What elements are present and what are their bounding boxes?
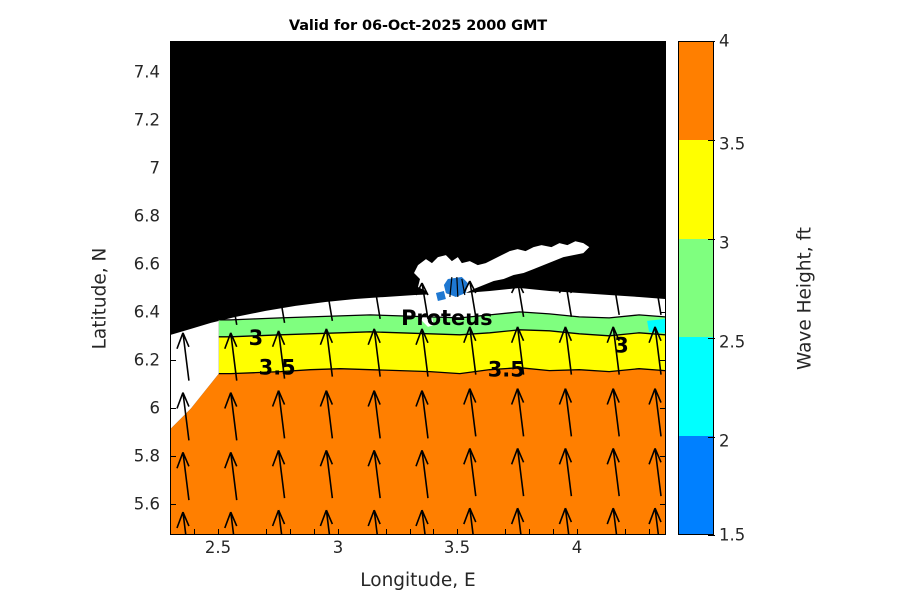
colorbar-tick-4 (708, 41, 715, 42)
colorbar-tick-1.5 (708, 535, 715, 536)
x-axis-title: Longitude, E (170, 570, 666, 591)
ytick-mark-right-6.8 (660, 216, 666, 217)
xtick-mark-top-minor-1 (194, 41, 195, 47)
colorbar-band-blue (679, 436, 713, 534)
ytick-mark-5.8 (170, 456, 176, 457)
xtick-mark-top-minor-12 (649, 41, 650, 47)
ytick-mark-5.6 (170, 504, 176, 505)
xtick-label-3.5: 3.5 (427, 538, 487, 557)
ytick-mark-right-6.2 (660, 360, 666, 361)
colorbar-title: Wave Height, ft (795, 174, 816, 424)
ytick-mark-6.2 (170, 360, 176, 361)
station-label-proteus: Proteus (401, 306, 493, 330)
xtick-mark-minor-2 (266, 529, 267, 535)
xtick-mark-3.5 (457, 529, 458, 535)
xtick-mark-minor-9 (529, 529, 530, 535)
map-plot-area[interactable]: 3 3.5 3.5 3 Proteus (170, 41, 666, 535)
y-axis-title: Latitude, N (90, 174, 111, 424)
ytick-mark-right-5.6 (660, 504, 666, 505)
xtick-mark-top-minor-9 (529, 41, 530, 47)
contour-label-35-right: 3.5 (488, 358, 525, 382)
ytick-mark-6 (170, 408, 176, 409)
xtick-mark-2.5 (218, 529, 219, 535)
ytick-label-5.8: 5.8 (100, 447, 160, 466)
colorbar-band-yellow (679, 140, 713, 238)
ytick-mark-7 (170, 168, 176, 169)
ytick-mark-6.6 (170, 264, 176, 265)
colorbar-band-orange (679, 42, 713, 140)
colorbar[interactable] (678, 41, 714, 535)
xtick-mark-top-minor-10 (553, 41, 554, 47)
xtick-mark-top-minor-8 (505, 41, 506, 47)
ytick-mark-right-7 (660, 168, 666, 169)
xtick-mark-minor-12 (649, 529, 650, 535)
colorbar-tick-2 (708, 437, 715, 438)
ytick-mark-right-5.8 (660, 456, 666, 457)
contour-label-3-left: 3 (249, 326, 264, 350)
xtick-mark-minor-1 (194, 529, 195, 535)
ytick-mark-right-6 (660, 408, 666, 409)
xtick-mark-4 (577, 529, 578, 535)
wave-height-map: 3 3.5 3.5 3 Proteus (171, 42, 665, 534)
colorbar-tick-2.5 (708, 338, 715, 339)
xtick-mark-minor-8 (505, 529, 506, 535)
ytick-mark-7.2 (170, 120, 176, 121)
xtick-mark-minor-3 (290, 529, 291, 535)
xtick-mark-3 (338, 529, 339, 535)
ytick-label-7.4: 7.4 (100, 63, 160, 82)
xtick-mark-top-minor-11 (625, 41, 626, 47)
xtick-mark-top-3.5 (457, 41, 458, 47)
xtick-mark-top-minor-2 (266, 41, 267, 47)
ytick-label-7.2: 7.2 (100, 111, 160, 130)
xtick-mark-minor-7 (433, 529, 434, 535)
xtick-label-4: 4 (547, 538, 607, 557)
colorbar-label-2.5: 2.5 (719, 333, 745, 352)
xtick-mark-minor-4 (314, 529, 315, 535)
ytick-label-5.6: 5.6 (100, 495, 160, 514)
ytick-mark-right-7.4 (660, 72, 666, 73)
xtick-mark-minor-11 (625, 529, 626, 535)
ytick-mark-right-7.2 (660, 120, 666, 121)
colorbar-label-3.5: 3.5 (719, 135, 745, 154)
xtick-mark-top-minor-6 (410, 41, 411, 47)
xtick-mark-minor-6 (410, 529, 411, 535)
xtick-mark-top-4 (577, 41, 578, 47)
ytick-mark-7.4 (170, 72, 176, 73)
contour-label-3-right: 3 (614, 334, 629, 358)
xtick-mark-top-minor-3 (290, 41, 291, 47)
ytick-mark-right-6.6 (660, 264, 666, 265)
xtick-label-3: 3 (308, 538, 368, 557)
xtick-mark-top-minor-7 (433, 41, 434, 47)
ytick-mark-6.4 (170, 312, 176, 313)
colorbar-tick-3.5 (708, 140, 715, 141)
chart-title: Valid for 06-Oct-2025 2000 GMT (170, 18, 666, 34)
contour-label-35-left: 3.5 (259, 356, 296, 380)
xtick-mark-top-minor-5 (386, 41, 387, 47)
colorbar-label-4: 4 (719, 32, 730, 51)
colorbar-band-green (679, 239, 713, 337)
colorbar-label-2: 2 (719, 432, 730, 451)
colorbar-label-3: 3 (719, 234, 730, 253)
ytick-mark-6.8 (170, 216, 176, 217)
xtick-mark-minor-10 (553, 529, 554, 535)
xtick-mark-top-3 (338, 41, 339, 47)
colorbar-label-1.5: 1.5 (719, 526, 745, 545)
contour-band-orange (171, 368, 665, 534)
colorbar-band-cyan (679, 337, 713, 435)
figure-canvas: Valid for 06-Oct-2025 2000 GMT (0, 0, 900, 600)
xtick-label-2.5: 2.5 (188, 538, 248, 557)
colorbar-tick-3 (708, 239, 715, 240)
ytick-mark-right-6.4 (660, 312, 666, 313)
xtick-mark-top-2.5 (218, 41, 219, 47)
xtick-mark-minor-5 (386, 529, 387, 535)
xtick-mark-top-minor-4 (314, 41, 315, 47)
